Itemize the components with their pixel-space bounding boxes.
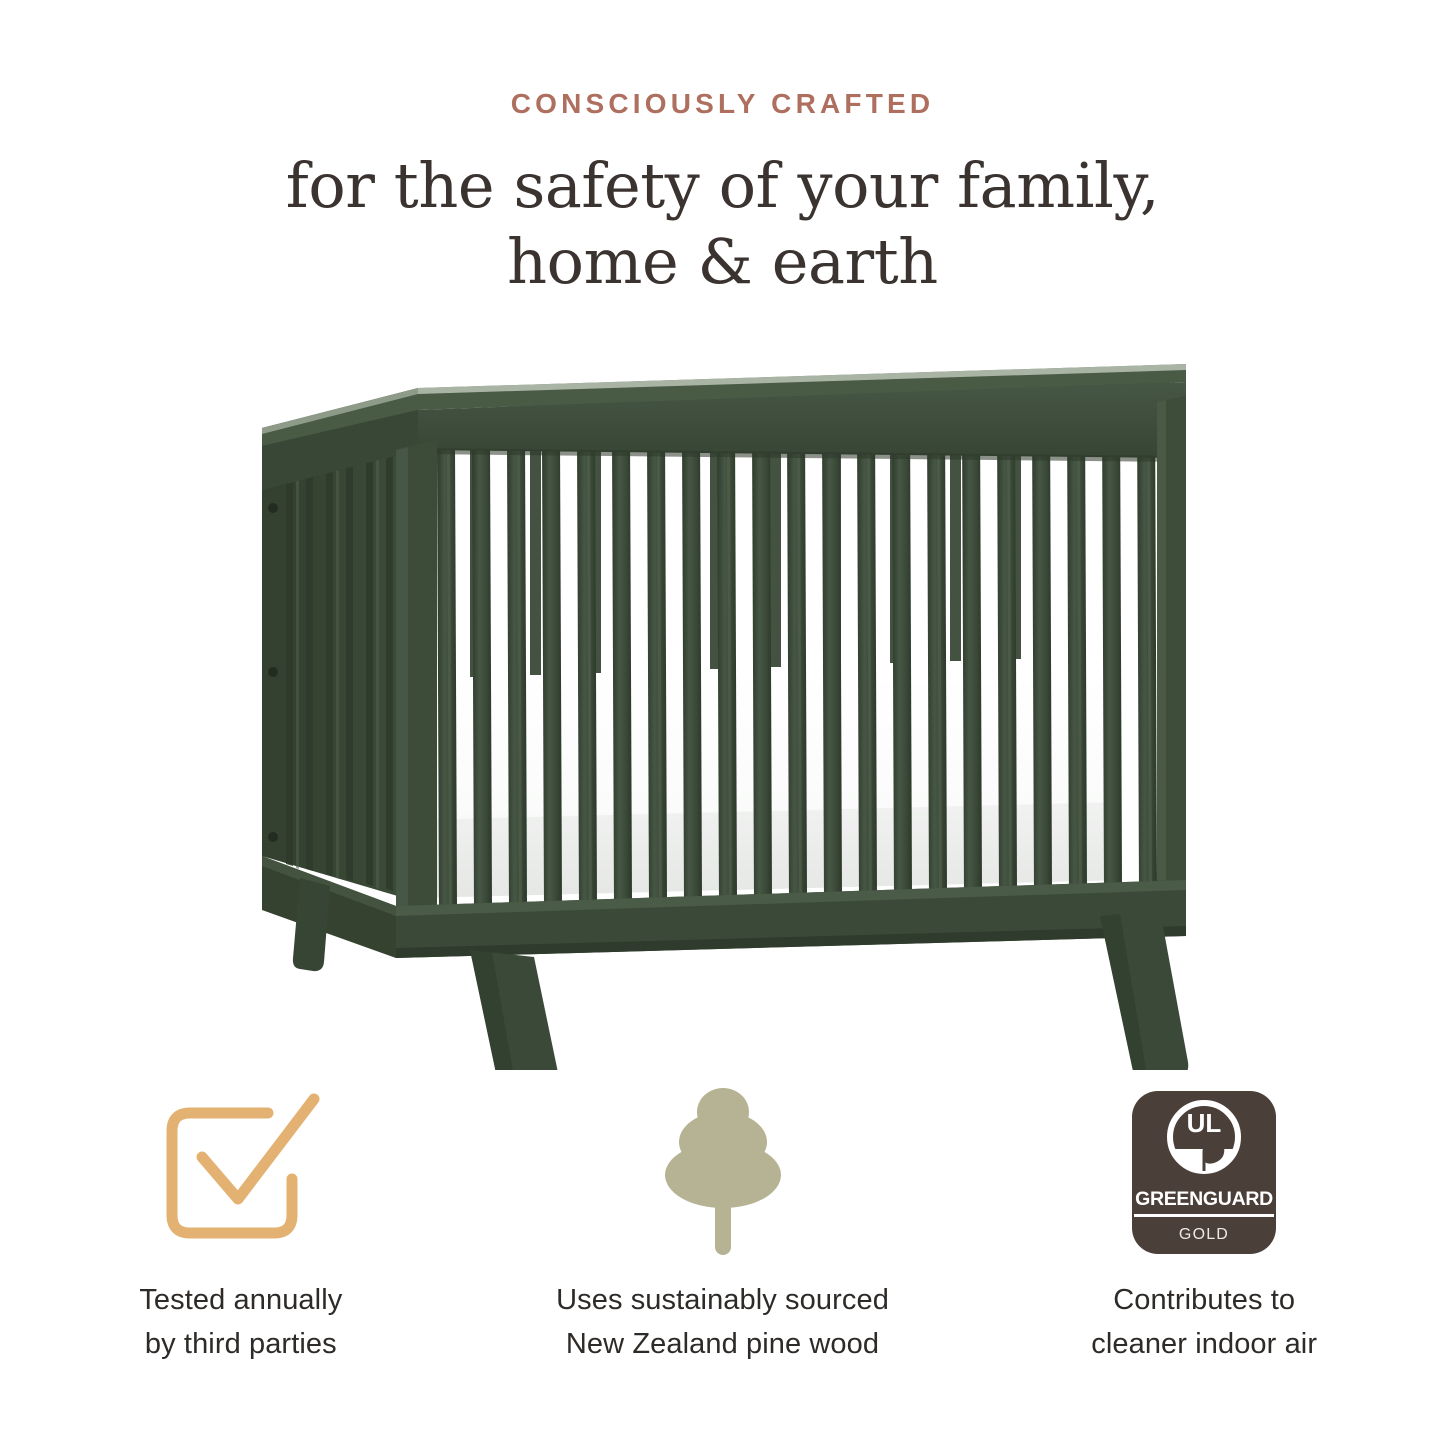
crib-mounting-hole	[268, 832, 278, 842]
crib-front-slats	[437, 404, 1157, 912]
feature-caption: Contributes to cleaner indoor air	[1091, 1278, 1317, 1366]
badge-brand-text: GREENGUARD	[1135, 1188, 1273, 1210]
crib-mounting-hole	[268, 503, 278, 513]
feature-caption: Uses sustainably sourced New Zealand pin…	[556, 1278, 889, 1366]
feature-item-tested: Tested annually by third parties	[0, 1085, 482, 1366]
crib-left-post	[396, 440, 437, 926]
feature-caption-line-1: Tested annually	[139, 1284, 342, 1316]
headline-line-1: for the safety of your family,	[286, 149, 1159, 222]
crib-right-post	[1157, 396, 1186, 894]
headline-line-2: home & earth	[0, 224, 1445, 300]
greenguard-gold-badge-icon: UL GREENGUARD GOLD	[1118, 1085, 1290, 1260]
crib-mounting-hole	[268, 667, 278, 677]
infographic-page: CONSCIOUSLY CRAFTED for the safety of yo…	[0, 0, 1445, 1445]
feature-caption: Tested annually by third parties	[139, 1278, 342, 1366]
checkbox-check-icon	[146, 1085, 336, 1260]
feature-icon-wrap	[146, 1085, 336, 1260]
feature-item-air: UL GREENGUARD GOLD Contributes to cleane…	[963, 1085, 1445, 1366]
eyebrow-text: CONSCIOUSLY CRAFTED	[0, 88, 1445, 120]
feature-icon-wrap	[648, 1085, 798, 1260]
feature-caption-line-1: Contributes to	[1113, 1284, 1295, 1316]
tree-icon	[648, 1085, 798, 1260]
feature-caption-line-1: Uses sustainably sourced	[556, 1284, 889, 1316]
feature-icon-wrap: UL GREENGUARD GOLD	[1118, 1085, 1290, 1260]
feature-caption-line-2: cleaner indoor air	[1091, 1322, 1317, 1366]
feature-row: Tested annually by third parties	[0, 1085, 1445, 1366]
feature-caption-line-2: by third parties	[139, 1322, 342, 1366]
crib-illustration	[0, 350, 1445, 1070]
feature-caption-line-2: New Zealand pine wood	[556, 1322, 889, 1366]
ul-letters: UL	[1187, 1108, 1222, 1138]
page-title: for the safety of your family, home & ea…	[0, 148, 1445, 300]
badge-tier-text: GOLD	[1179, 1226, 1229, 1243]
feature-item-wood: Uses sustainably sourced New Zealand pin…	[482, 1085, 964, 1366]
badge-divider	[1134, 1214, 1274, 1217]
product-image	[0, 350, 1445, 1070]
